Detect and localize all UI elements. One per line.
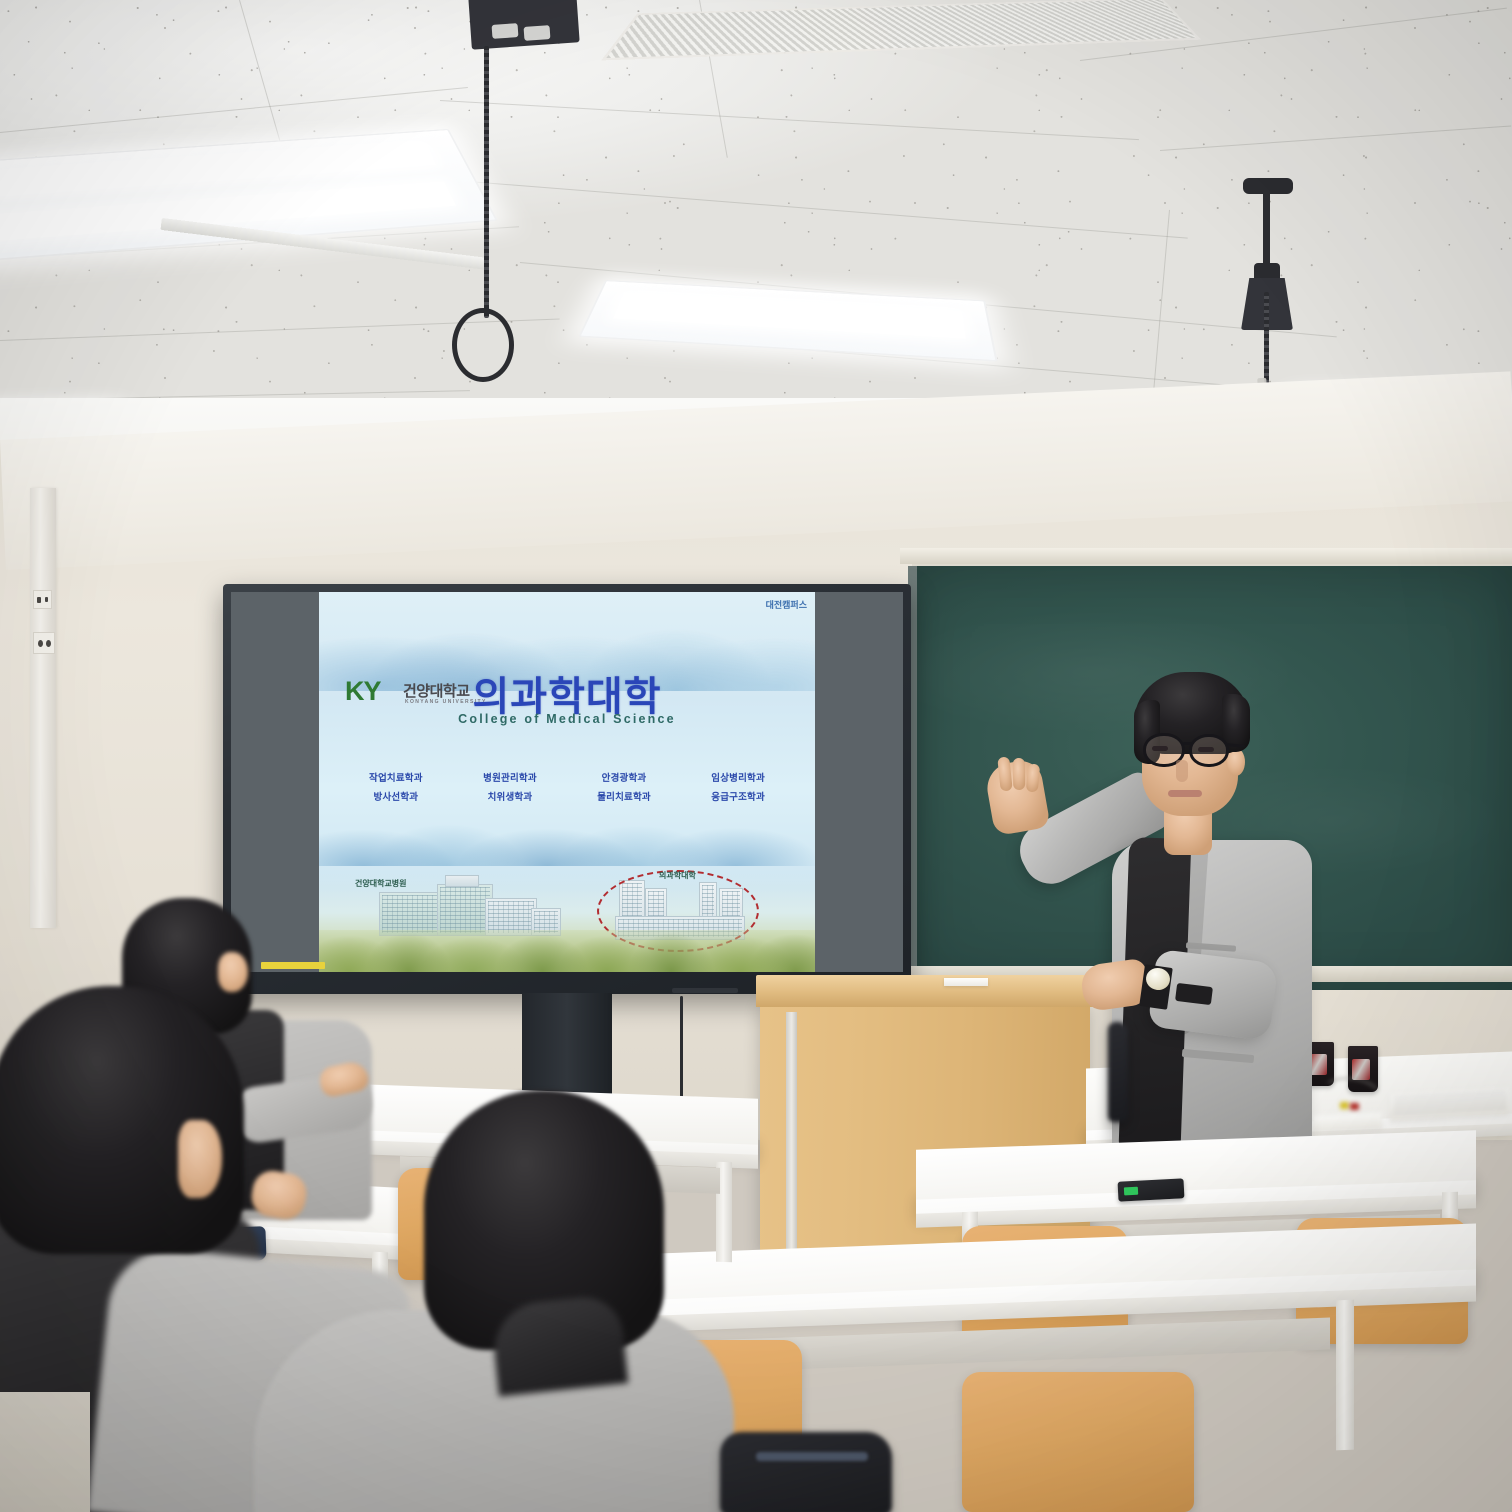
chair[interactable]: [962, 1372, 1194, 1512]
student-mid-left-face-edge: [218, 952, 248, 992]
department-list: 작업치료학과 병원관리학과 안경광학과 임상병리학과 방사선학과 치위생학과 물…: [339, 770, 795, 803]
display-screen: 대전캠퍼스 KY 건양대학교 KONYANG UNIVERSITY 의과학대학 …: [231, 592, 903, 972]
department-item: 물리치료학과: [567, 789, 681, 803]
display-bezel-inner: 대전캠퍼스 KY 건양대학교 KONYANG UNIVERSITY 의과학대학 …: [231, 592, 903, 972]
department-item: 응급구조학과: [681, 789, 795, 803]
presenter-mouth: [1168, 790, 1202, 797]
screen-motor-roller: [492, 23, 519, 39]
campus-building-roof: [445, 875, 479, 887]
display-cable-tray: [672, 988, 738, 993]
wall-display[interactable]: 대전캠퍼스 KY 건양대학교 KONYANG UNIVERSITY 의과학대학 …: [223, 584, 911, 994]
remote-indicator: [1124, 1187, 1138, 1196]
lectern-paper: [944, 978, 988, 986]
presenter-nose: [1176, 760, 1188, 782]
department-item: 방사선학과: [339, 789, 453, 803]
presenter-eye: [1198, 747, 1214, 752]
wall-cable-conduit: [30, 488, 56, 928]
presentation-slide: 대전캠퍼스 KY 건양대학교 KONYANG UNIVERSITY 의과학대학 …: [319, 592, 815, 972]
campus-greenery: [319, 930, 815, 972]
lectern-leg: [786, 1012, 797, 1252]
department-item: 안경광학과: [567, 770, 681, 784]
classroom-photo: 대전캠퍼스 KY 건양대학교 KONYANG UNIVERSITY 의과학대학 …: [0, 0, 1512, 1512]
screen-pull-chain[interactable]: [484, 46, 489, 318]
student-bag[interactable]: [720, 1432, 892, 1512]
wall-switch-plate[interactable]: [33, 590, 52, 609]
screen-pull-ring[interactable]: [452, 308, 514, 382]
presenter-finger: [1013, 758, 1026, 790]
wall-outlet-plate[interactable]: [33, 632, 55, 654]
student-front-left-head: [0, 986, 244, 1254]
campus-label-college: 의과학대학: [659, 870, 696, 881]
floor: [0, 1392, 90, 1512]
campus-label-hospital: 건양대학교병원: [355, 878, 407, 889]
department-item: 작업치료학과: [339, 770, 453, 784]
display-warning-sticker: [261, 962, 325, 969]
slide-background: 대전캠퍼스 KY 건양대학교 KONYANG UNIVERSITY 의과학대학 …: [319, 592, 815, 972]
department-item: 치위생학과: [453, 789, 567, 803]
cable-connector-red: [1350, 1103, 1359, 1110]
student-front-left-face-edge: [178, 1120, 222, 1198]
desk-leg: [1336, 1300, 1354, 1451]
screen-motor-roller: [524, 25, 551, 41]
student-bag-zipper: [756, 1452, 868, 1461]
slide-subtitle: College of Medical Science: [319, 712, 815, 726]
ceiling-screen-motor-box: [468, 0, 579, 50]
slide-mountain-graphic-mid: [319, 801, 815, 866]
ceiling-mount-rod: [1263, 190, 1270, 270]
department-item: 임상병리학과: [681, 770, 795, 784]
lectern-top-surface: [756, 975, 1096, 1007]
shoulder-bag-strap: [1108, 1022, 1128, 1122]
presenter-eye: [1152, 746, 1168, 751]
presentation-remote[interactable]: [1118, 1178, 1185, 1201]
chalkboard-top-trim: [900, 548, 1512, 564]
glasses-bridge: [1183, 742, 1192, 745]
slide-campus-tag: 대전캠퍼스: [766, 598, 807, 611]
department-item: 병원관리학과: [453, 770, 567, 784]
cable-connector-yellow: [1340, 1102, 1349, 1109]
